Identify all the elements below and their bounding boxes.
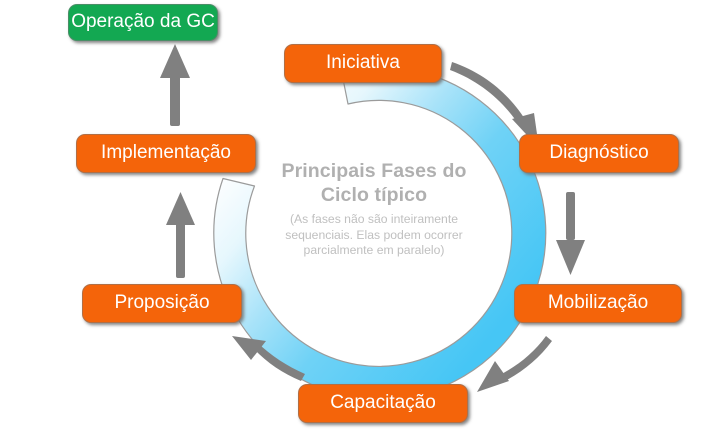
node-iniciativa[interactable]: Iniciativa — [284, 44, 442, 83]
node-capacitacao[interactable]: Capacitação — [298, 384, 468, 423]
node-mobilizacao[interactable]: Mobilização — [514, 284, 682, 323]
node-mobilizacao-label: Mobilização — [548, 293, 648, 312]
node-proposicao-label: Proposição — [114, 293, 209, 312]
node-operacao-da-gc-label: Operação da GC — [71, 12, 215, 31]
node-implementacao-label: Implementação — [101, 143, 231, 162]
node-operacao-da-gc[interactable]: Operação da GC — [68, 4, 218, 41]
node-diagnostico-label: Diagnóstico — [549, 143, 648, 162]
arrow-proposicao-to-implementacao — [166, 192, 195, 278]
node-implementacao[interactable]: Implementação — [76, 134, 256, 173]
node-capacitacao-label: Capacitação — [330, 393, 436, 412]
node-iniciativa-label: Iniciativa — [326, 53, 400, 72]
node-proposicao[interactable]: Proposição — [82, 284, 242, 323]
diagram-canvas: Principais Fases do Ciclo típico (As fas… — [0, 0, 702, 434]
arrow-diagnostico-to-mobilizacao — [556, 192, 585, 275]
arrow-implementacao-to-operacao — [160, 44, 190, 126]
node-diagnostico[interactable]: Diagnóstico — [519, 134, 679, 173]
